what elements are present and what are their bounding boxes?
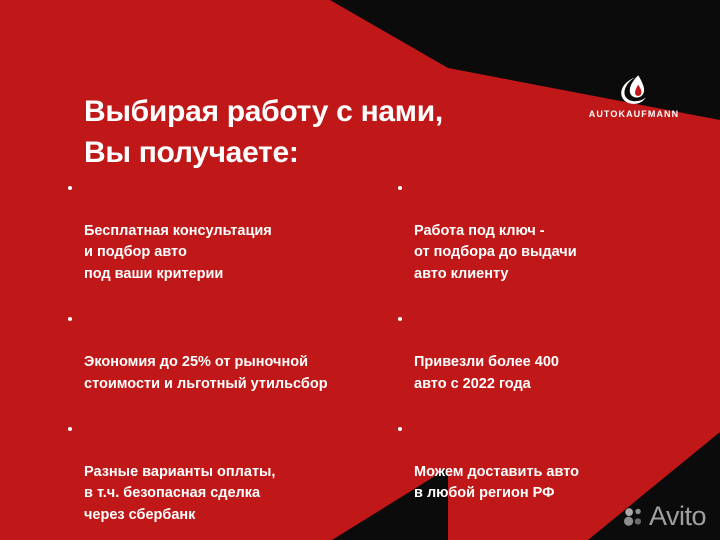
benefit-text: Экономия до 25% от рыночной стоимости и … xyxy=(84,354,328,391)
bullet-dot-icon xyxy=(398,427,402,431)
page-title: Выбирая работу с нами, Вы получаете: xyxy=(84,92,514,174)
avito-wordmark: Avito xyxy=(649,503,706,530)
benefit-text: Бесплатная консультация и подбор авто по… xyxy=(84,223,272,282)
benefit-text: Разные варианты оплаты, в т.ч. безопасна… xyxy=(84,464,275,523)
benefit-item: Привезли более 400 авто с 2022 года xyxy=(398,309,698,395)
benefits-columns: Бесплатная консультация и подбор авто по… xyxy=(68,178,700,540)
benefit-text: Можем доставить авто в любой регион РФ xyxy=(414,464,579,501)
promo-banner: Выбирая работу с нами, Вы получаете: AUT… xyxy=(0,0,720,540)
benefit-text: Привезли более 400 авто с 2022 года xyxy=(414,354,559,391)
flame-swirl-logo-icon xyxy=(617,72,651,106)
brand-logo: AUTOKAUFMANN xyxy=(578,72,690,119)
bullet-dot-icon xyxy=(398,317,402,321)
benefits-right-column: Работа под ключ - от подбора до выдачи а… xyxy=(398,178,698,505)
benefit-item: Можем доставить авто в любой регион РФ xyxy=(398,419,698,505)
benefit-item: Бесплатная консультация и подбор авто по… xyxy=(68,178,398,285)
bullet-dot-icon xyxy=(68,427,72,431)
bullet-dot-icon xyxy=(398,186,402,190)
benefit-item: Экономия до 25% от рыночной стоимости и … xyxy=(68,309,398,395)
bullet-dot-icon xyxy=(68,186,72,190)
brand-wordmark: AUTOKAUFMANN xyxy=(589,109,680,119)
bullet-dot-icon xyxy=(68,317,72,321)
benefit-text: Работа под ключ - от подбора до выдачи а… xyxy=(414,223,577,282)
avito-watermark: Avito xyxy=(623,503,706,530)
benefit-item: Разные варианты оплаты, в т.ч. безопасна… xyxy=(68,419,398,526)
benefit-item: Работа под ключ - от подбора до выдачи а… xyxy=(398,178,698,285)
avito-dots-icon xyxy=(623,506,644,527)
benefits-left-column: Бесплатная консультация и подбор авто по… xyxy=(68,178,398,540)
